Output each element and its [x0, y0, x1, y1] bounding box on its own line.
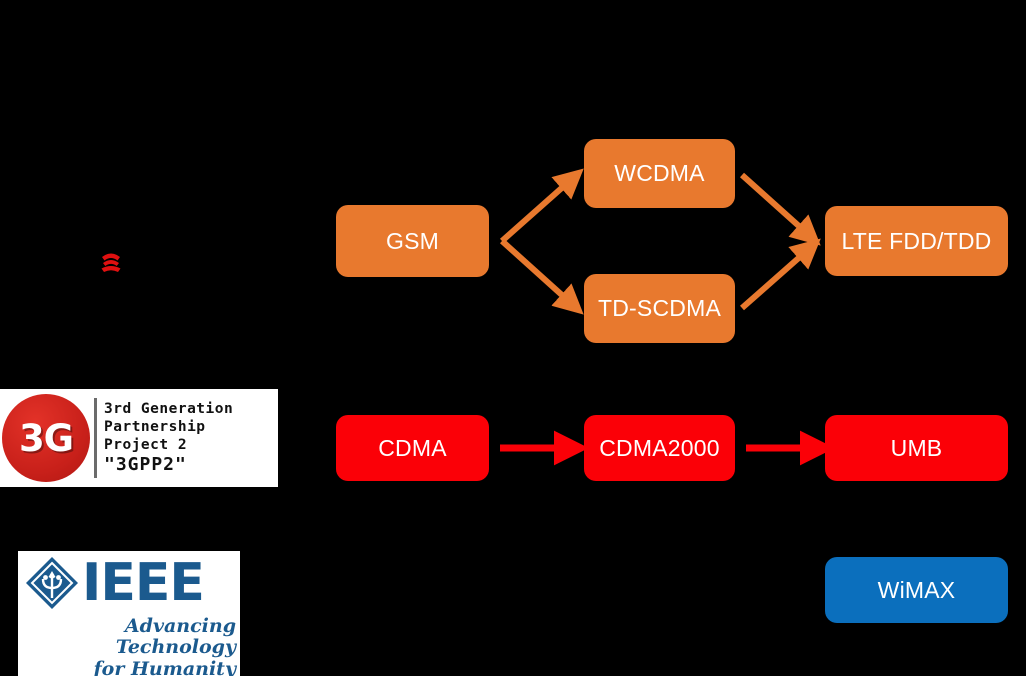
3gpp2-line-1: 3rd Generation: [104, 401, 233, 417]
ieee-diamond-icon: [24, 555, 80, 611]
node-umb[interactable]: UMB: [825, 415, 1008, 481]
3gpp-wave-icon: [96, 246, 126, 276]
3gpp2-badge-icon: 3G: [2, 394, 90, 482]
ieee-wordmark: IEEE: [82, 557, 204, 609]
node-gsm-label: GSM: [386, 230, 439, 253]
3gpp2-line-2: Partnership: [104, 419, 233, 435]
node-wcdma-label: WCDMA: [614, 162, 704, 185]
node-wimax[interactable]: WiMAX: [825, 557, 1008, 623]
edge-gsm-wcdma: [502, 178, 573, 241]
node-umb-label: UMB: [891, 437, 943, 460]
ieee-tagline-line-2: for Humanity: [18, 659, 236, 676]
node-cdma-label: CDMA: [378, 437, 447, 460]
edge-tdscdma-lte: [742, 248, 810, 308]
edge-gsm-tdscdma: [502, 241, 573, 305]
edge-wcdma-lte: [742, 175, 810, 236]
diagram-canvas: GSM WCDMA TD-SCDMA LTE FDD/TDD CDMA CDMA…: [0, 0, 1026, 676]
node-wcdma[interactable]: WCDMA: [584, 139, 735, 208]
node-lte-fdd-tdd-label: LTE FDD/TDD: [842, 230, 992, 253]
ieee-tagline-line-1: Advancing Technology: [18, 616, 236, 659]
3gpp2-line-3: Project 2: [104, 437, 233, 453]
3gpp2-badge-text: 3G: [19, 420, 73, 457]
node-lte-fdd-tdd[interactable]: LTE FDD/TDD: [825, 206, 1008, 276]
3gpp2-text-block: 3rd Generation Partnership Project 2 "3G…: [104, 401, 233, 476]
node-cdma2000-label: CDMA2000: [599, 437, 720, 460]
ieee-tagline: Advancing Technology for Humanity: [18, 616, 240, 676]
node-cdma[interactable]: CDMA: [336, 415, 489, 481]
ieee-logo-top-row: IEEE: [18, 551, 240, 615]
node-wimax-label: WiMAX: [878, 579, 956, 602]
3gpp2-divider: [94, 398, 97, 478]
node-cdma2000[interactable]: CDMA2000: [584, 415, 735, 481]
node-td-scdma-label: TD-SCDMA: [598, 297, 721, 320]
3gpp2-logo: 3G 3rd Generation Partnership Project 2 …: [0, 389, 278, 487]
3gpp2-line-4: "3GPP2": [104, 455, 233, 475]
node-td-scdma[interactable]: TD-SCDMA: [584, 274, 735, 343]
ieee-logo: IEEE Advancing Technology for Humanity: [18, 551, 240, 676]
node-gsm[interactable]: GSM: [336, 205, 489, 277]
